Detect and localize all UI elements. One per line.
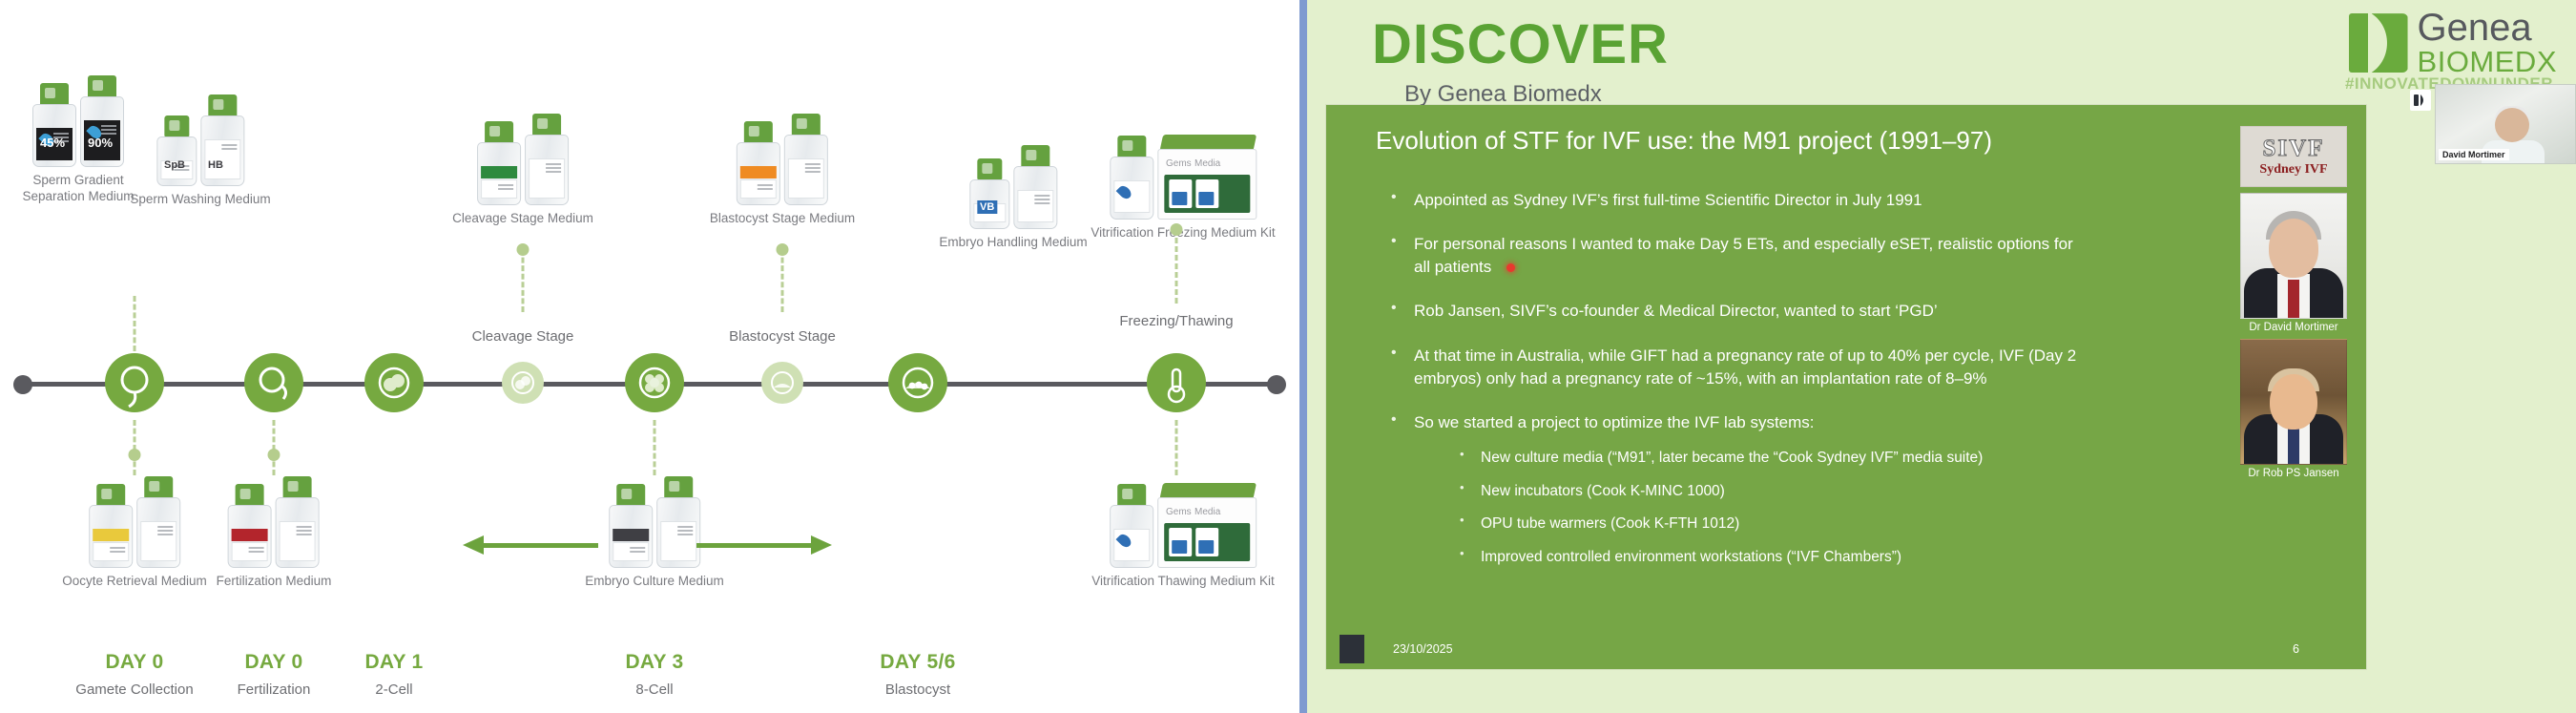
timeline-node-8-cell[interactable]: DAY 3 8-Cell: [625, 353, 684, 412]
product-embryo-culture-medium: Embryo Culture Medium: [585, 472, 724, 590]
bottle: [784, 114, 828, 205]
stem-dot: [129, 449, 141, 461]
bottle-label-spb: SpB: [164, 159, 185, 171]
product-sperm-washing: SpB HB Sperm Washing Medium: [130, 91, 270, 208]
sivf-logo: SIVF Sydney IVF: [2240, 126, 2347, 187]
product-oocyte-retrieval: Oocyte Retrieval Medium: [62, 472, 207, 590]
node-stem-down: [273, 420, 276, 475]
genea-wordmark: Genea: [2418, 10, 2557, 47]
stem-dot: [268, 449, 280, 461]
timeline-endcap-start: [13, 375, 32, 394]
slide-page-number: 6: [2293, 642, 2299, 656]
bottle-label-vb: VB: [977, 200, 997, 214]
bottle: 90%: [80, 75, 124, 167]
node-stage-label: Cleavage Stage: [399, 328, 647, 345]
node-stage-label: Blastocyst Stage: [658, 328, 906, 345]
product-caption: Sperm Gradient Separation Medium: [7, 173, 150, 205]
discover-title: DISCOVER: [1372, 17, 1669, 73]
bottle: VB: [969, 158, 1009, 229]
bottle-value-45: 45: [40, 136, 53, 150]
product-blastocyst-stage: Blastocyst Stage Medium: [710, 110, 855, 227]
product-caption: Embryo Handling Medium: [939, 235, 1087, 251]
product-fertilization-medium: Fertilization Medium: [217, 472, 332, 590]
product-caption: Fertilization Medium: [217, 574, 332, 590]
bullet-text: So we started a project to optimize the …: [1414, 413, 1815, 431]
oocyte-icon: [105, 353, 164, 412]
laser-pointer-dot: [1506, 263, 1515, 272]
sub-bullet-item: New incubators (Cook K-MINC 1000): [1443, 481, 2089, 502]
discover-brand: DISCOVER By Genea Biomedx: [1372, 17, 1669, 108]
slide-footer: 23/10/2025 6: [1326, 631, 2366, 669]
screen-root: 45% 90% Sperm Gradient Separation Medium…: [0, 0, 2576, 713]
slide-bullet-list: Appointed as Sydney IVF’s first full-tim…: [1374, 189, 2089, 589]
product-caption: Blastocyst Stage Medium: [710, 211, 855, 227]
sperm-oocyte-icon: [244, 353, 303, 412]
footer-square-icon: [1340, 635, 1364, 663]
product-caption: Oocyte Retrieval Medium: [62, 574, 207, 590]
bottle: HB: [200, 94, 244, 186]
node-stem: [781, 249, 784, 312]
genea-biomedx-logo: Genea BIOMEDX: [2349, 10, 2557, 76]
timeline-node-freezing-thawing[interactable]: Freezing/Thawing: [1147, 353, 1206, 412]
bullet-item: For personal reasons I wanted to make Da…: [1374, 233, 2089, 279]
sub-bullet-item: Improved controlled environment workstat…: [1443, 547, 2089, 568]
stem-dot: [1171, 223, 1183, 236]
bullet-item: At that time in Australia, while GIFT ha…: [1374, 345, 2089, 390]
product-cleavage-stage: Cleavage Stage Medium: [452, 110, 593, 227]
culture-span-arrows: [0, 535, 1299, 557]
node-day-label: DAY 5/6: [794, 651, 1042, 674]
pct-sign: %: [53, 136, 65, 150]
slide-canvas[interactable]: Evolution of STF for IVF use: the M91 pr…: [1326, 105, 2366, 669]
product-caption: Embryo Culture Medium: [585, 574, 724, 590]
bullet-item: Appointed as Sydney IVF’s first full-tim…: [1374, 189, 2089, 212]
timeline-node-2-cell[interactable]: DAY 1 2-Cell: [364, 353, 424, 412]
sivf-acronym: SIVF: [2263, 136, 2325, 160]
node-stage-label: Freezing/Thawing: [1052, 313, 1300, 329]
timeline-node-blastocyst-stage[interactable]: Blastocyst Stage: [761, 362, 803, 404]
product-vitrification-thawing-kit: Gems Media Vitrification Thawing Medium …: [1091, 472, 1275, 590]
portrait-david-mortimer: [2240, 193, 2347, 319]
bottle: [1013, 145, 1057, 229]
timeline-endcap-end: [1267, 375, 1286, 394]
bottle: [1110, 136, 1153, 220]
node-stem-down: [134, 420, 136, 475]
kit-box: Gems Media: [1157, 145, 1257, 220]
bullet-text: Appointed as Sydney IVF’s first full-tim…: [1414, 191, 1922, 209]
product-caption: Vitrification Freezing Medium Kit: [1091, 225, 1275, 241]
bottle-pair: 45% 90%: [7, 72, 150, 167]
bottle: SpB: [156, 115, 197, 186]
node-stem: [134, 296, 136, 351]
bottle-cap-icon: [164, 115, 189, 136]
bullet-text: At that time in Australia, while GIFT ha…: [1414, 346, 2076, 388]
blastocyst-full-icon: [888, 353, 947, 412]
bullet-item: So we started a project to optimize the …: [1374, 411, 2089, 568]
participant-name-label: David Mortimer: [2439, 149, 2509, 160]
bottle: [737, 121, 780, 205]
bottle: 45%: [32, 83, 76, 167]
bullet-item: Rob Jansen, SIVF’s co-founder & Medical …: [1374, 300, 2089, 323]
timeline-node-fertilization[interactable]: DAY 0 Fertilization: [244, 353, 303, 412]
slide-title: Evolution of STF for IVF use: the M91 pr…: [1376, 126, 2223, 156]
gems-brand: Gems: [1166, 158, 1192, 169]
node-stage-label: 8-Cell: [530, 682, 779, 698]
sub-bullet-list: New culture media (“M91”, later became t…: [1443, 448, 2089, 568]
node-day-label: DAY 3: [530, 651, 779, 674]
node-stem-down: [654, 420, 656, 475]
product-sperm-gradient: 45% 90% Sperm Gradient Separation Medium: [7, 72, 150, 205]
bottle-label-hb: HB: [208, 159, 223, 171]
bottle: [477, 121, 521, 205]
product-embryo-handling: VB Embryo Handling Medium: [939, 134, 1087, 251]
arrow-right-icon: [696, 543, 813, 548]
sub-bullet-item: New culture media (“M91”, later became t…: [1443, 448, 2089, 469]
pct-sign: %: [101, 136, 113, 150]
discover-subtitle: By Genea Biomedx: [1404, 81, 1669, 108]
video-layout-icon[interactable]: [2410, 90, 2431, 111]
slide-photo-stack: SIVF Sydney IVF Dr David Mortimer Dr Rob…: [2240, 126, 2347, 479]
blastocyst-icon: [761, 362, 803, 404]
portrait-caption: Dr David Mortimer: [2240, 322, 2347, 333]
product-vitrification-freezing-kit: Gems Media Vitrification Freezing Medium…: [1091, 124, 1275, 241]
gems-sub: Media: [1195, 507, 1220, 517]
slide-date: 23/10/2025: [1393, 642, 1453, 656]
portrait-caption: Dr Rob PS Jansen: [2240, 468, 2347, 479]
timeline-node-gamete-collection[interactable]: DAY 0 Gamete Collection: [105, 353, 164, 412]
biomedx-wordmark: BIOMEDX: [2418, 47, 2557, 76]
node-stage-label: 2-Cell: [270, 682, 518, 698]
node-stem: [522, 249, 525, 312]
thermometer-icon: [1147, 353, 1206, 412]
arrow-left-icon: [482, 543, 598, 548]
bottle-cap-icon: [977, 158, 1002, 179]
sivf-wordmark: Sydney IVF: [2259, 162, 2327, 178]
stem-dot: [517, 243, 530, 256]
video-participant-tile[interactable]: David Mortimer: [2435, 84, 2576, 164]
node-stem-down: [1175, 420, 1178, 475]
timeline-node-blastocyst[interactable]: DAY 5/6 Blastocyst: [888, 353, 947, 412]
product-caption: Cleavage Stage Medium: [452, 211, 593, 227]
stem-dot: [777, 243, 789, 256]
two-cell-icon: [364, 353, 424, 412]
presentation-panel: DISCOVER By Genea Biomedx Genea BIOMEDX …: [1299, 0, 2576, 713]
portrait-rob-jansen: [2240, 339, 2347, 465]
bullet-text: Rob Jansen, SIVF’s co-founder & Medical …: [1414, 302, 1938, 320]
genea-mark-icon: [2349, 13, 2408, 73]
node-stem: [1175, 229, 1178, 304]
gems-brand: Gems: [1166, 507, 1192, 517]
gems-sub: Media: [1195, 158, 1220, 169]
panel-left-edge: [1299, 0, 1307, 713]
ivf-timeline-infographic: 45% 90% Sperm Gradient Separation Medium…: [0, 0, 1299, 713]
node-day-label: DAY 1: [270, 651, 518, 674]
eight-cell-icon: [625, 353, 684, 412]
sub-bullet-item: OPU tube warmers (Cook K-FTH 1012): [1443, 514, 2089, 535]
product-caption: Vitrification Thawing Medium Kit: [1091, 574, 1275, 590]
bottle-value-90: 90: [88, 136, 101, 150]
timeline-node-cleavage-stage[interactable]: Cleavage Stage: [502, 362, 544, 404]
bottle: [525, 114, 569, 205]
cleavage-icon: [502, 362, 544, 404]
product-caption: Sperm Washing Medium: [130, 192, 270, 208]
node-stage-label: Blastocyst: [794, 682, 1042, 698]
